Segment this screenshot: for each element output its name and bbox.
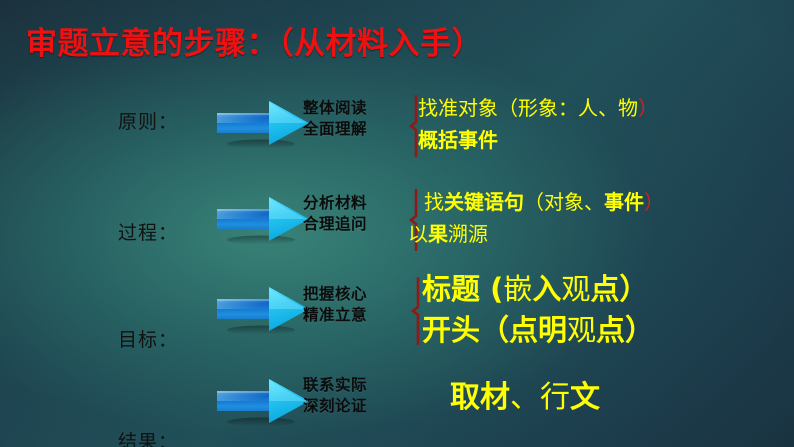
detail-line-1: 找关键语句（对象、事件） <box>424 187 664 217</box>
detail-seg-f: 点） <box>590 272 648 306</box>
detail-line-2: 概括事件 <box>418 123 658 157</box>
stage-label-result: 结果： <box>118 427 178 447</box>
detail-seg-b: 果 <box>428 222 448 246</box>
detail-seg-b: 关键语句 <box>444 190 524 214</box>
red-brace-icon <box>409 277 423 345</box>
phrase-line-2: 深刻论证 <box>303 396 367 417</box>
detail-seg-a: 开头（点明 <box>422 313 567 347</box>
detail-seg-a: 标题 <box>422 272 480 306</box>
detail-line-1: 标题 (嵌入观点） <box>422 269 654 309</box>
phrase-process: 分析材料 合理追问 <box>303 193 367 235</box>
detail-result: 取材、行文 <box>450 377 600 419</box>
right-arrow-3d-icon <box>213 97 313 149</box>
phrase-result: 联系实际 深刻论证 <box>303 375 367 417</box>
step-row-goal: 目标： 把握核心 精准立意 标题 (嵌入观点） 开头（点明观点） <box>0 265 794 355</box>
detail-seg-a: 以 <box>408 222 428 246</box>
detail-seg-a: 找 <box>424 190 444 214</box>
detail-seg-c: 溯源 <box>448 222 488 246</box>
detail-text: 找准对象（形象：人、物 <box>418 96 638 120</box>
detail-principle: 找准对象（形象：人、物） 概括事件 <box>418 93 658 157</box>
detail-line-1: 取材、行文 <box>450 377 600 419</box>
right-arrow-3d-icon <box>213 283 313 335</box>
detail-paren: ） <box>644 190 664 214</box>
step-row-result: 结果： 联系实际 深刻论证 取材、行文 <box>0 355 794 445</box>
right-arrow-3d-icon <box>213 193 313 245</box>
detail-line-2: 以果溯源 <box>408 217 664 251</box>
step-row-principle: 原则： <box>0 85 794 175</box>
stage-label-goal: 目标： <box>118 325 178 352</box>
detail-goal: 标题 (嵌入观点） 开头（点明观点） <box>422 269 654 351</box>
detail-line-1: 找准对象（形象：人、物） <box>418 93 658 123</box>
stage-label-principle: 原则： <box>118 107 178 134</box>
detail-paren: ） <box>638 96 658 120</box>
detail-seg-b: 、 <box>510 380 540 415</box>
detail-seg-b: ( <box>480 272 503 306</box>
phrase-principle: 整体阅读 全面理解 <box>303 98 367 140</box>
phrase-line-1: 联系实际 <box>303 375 367 396</box>
detail-seg-d: 事件 <box>604 190 644 214</box>
phrase-line-1: 整体阅读 <box>303 98 367 119</box>
detail-seg-c: （对象、 <box>524 190 604 214</box>
phrase-line-2: 精准立意 <box>303 305 367 326</box>
detail-seg-e: 观 <box>561 272 590 306</box>
detail-process: 找关键语句（对象、事件） 以果溯源 <box>424 187 664 251</box>
detail-seg-a: 取材 <box>450 380 510 415</box>
detail-seg-c: 嵌 <box>503 272 532 306</box>
step-row-process: 过程： 分析材料 合理追问 找关键语句（对象、事件） 以果溯源 <box>0 175 794 265</box>
detail-seg-c: 点） <box>596 313 654 347</box>
page-title: 审题立意的步骤：（从材料入手） <box>26 18 483 63</box>
stage-label-process: 过程： <box>118 218 178 245</box>
presentation-slide: 审题立意的步骤：（从材料入手） 原则： <box>0 0 794 447</box>
phrase-line-2: 合理追问 <box>303 214 367 235</box>
detail-seg-c: 行 <box>540 380 570 415</box>
phrase-line-1: 分析材料 <box>303 193 367 214</box>
detail-seg-b: 观 <box>567 313 596 347</box>
detail-seg-d: 文 <box>570 380 600 415</box>
phrase-line-1: 把握核心 <box>303 284 367 305</box>
detail-line-2: 开头（点明观点） <box>422 309 654 351</box>
right-arrow-3d-icon <box>213 375 313 427</box>
phrase-goal: 把握核心 精准立意 <box>303 284 367 326</box>
phrase-line-2: 全面理解 <box>303 119 367 140</box>
detail-seg-d: 入 <box>532 272 561 306</box>
